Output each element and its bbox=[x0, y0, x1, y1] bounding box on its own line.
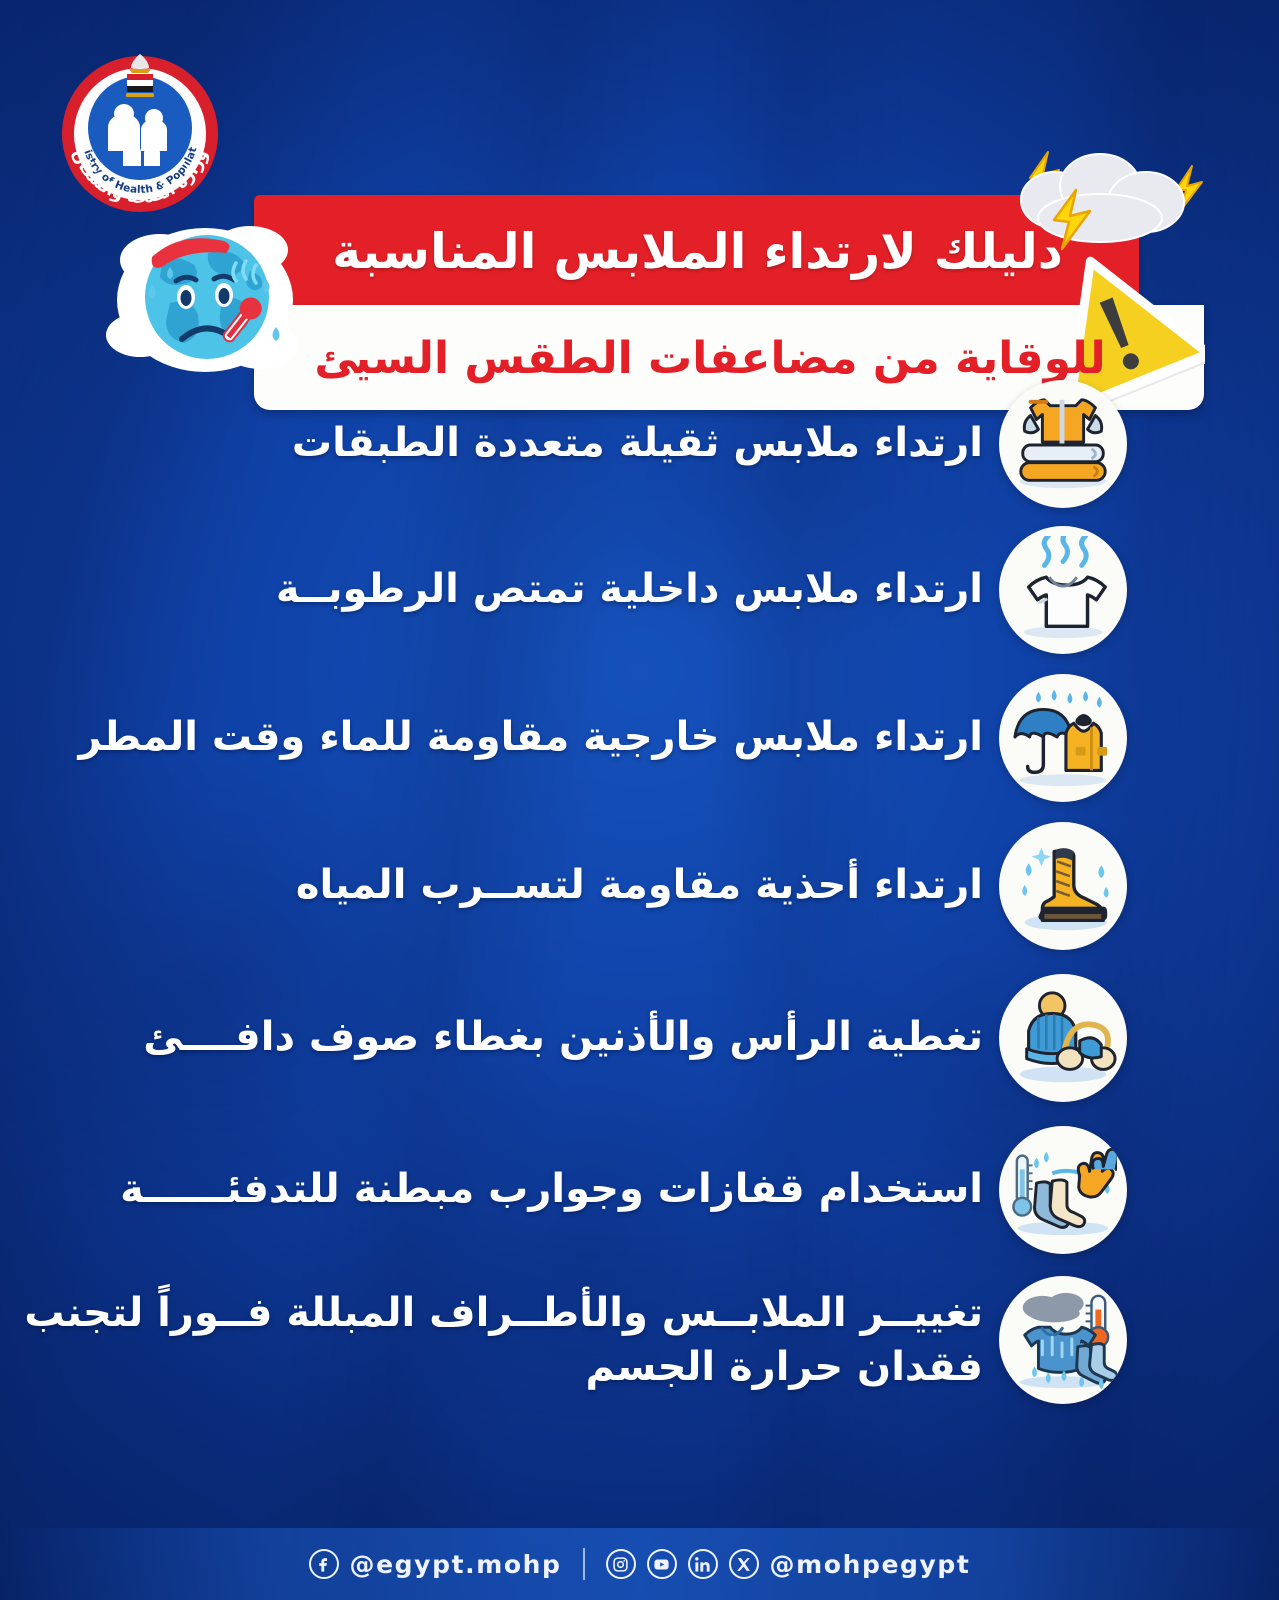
other-handle[interactable]: @mohpegypt bbox=[770, 1550, 971, 1579]
footer-divider bbox=[583, 1548, 585, 1580]
wool-hat-earmuffs-icon bbox=[999, 974, 1127, 1102]
list-item-label: ارتداء أحذية مقاومة لتســرب المياه bbox=[23, 860, 983, 911]
header-banner: دليلك لارتداء الملابس المناسبة للوقاية م… bbox=[100, 150, 1210, 410]
list-item-label: ارتداء ملابس داخلية تمتص الرطوبــة bbox=[23, 564, 983, 615]
list-item-label: استخدام قفازات وجوارب مبطنة للتدفئــــــ… bbox=[23, 1164, 983, 1215]
list-item-label: تغطية الرأس والأذنين بغطاء صوف دافــــئ bbox=[23, 1012, 983, 1063]
page-title: دليلك لارتداء الملابس المناسبة bbox=[270, 202, 1125, 300]
youtube-icon[interactable] bbox=[647, 1549, 677, 1579]
gloves-socks-icon bbox=[999, 1126, 1127, 1254]
linkedin-icon[interactable] bbox=[688, 1549, 718, 1579]
facebook-handle[interactable]: @egypt.mohp bbox=[350, 1550, 562, 1579]
facebook-icon[interactable] bbox=[309, 1549, 339, 1579]
list-item-label: تغييــر الملابــس والأطــراف المبللة فــ… bbox=[23, 1286, 983, 1394]
list-item-label: ارتداء ملابس خارجية مقاومة للماء وقت الم… bbox=[23, 712, 983, 763]
waterproof-boot-icon bbox=[999, 822, 1127, 950]
layered-clothes-icon bbox=[999, 380, 1127, 508]
x-icon[interactable] bbox=[729, 1549, 759, 1579]
social-footer: @egypt.mohp @mohpegypt bbox=[0, 1528, 1279, 1600]
wet-clothes-icon bbox=[999, 1276, 1127, 1404]
instagram-icon[interactable] bbox=[606, 1549, 636, 1579]
list-item-label: ارتداء ملابس ثقيلة متعددة الطبقات bbox=[23, 418, 983, 469]
moisture-wicking-shirt-icon bbox=[999, 526, 1127, 654]
page-subtitle: للوقاية من مضاعفات الطقس السيئ bbox=[270, 313, 1150, 403]
umbrella-raincoat-icon bbox=[999, 674, 1127, 802]
